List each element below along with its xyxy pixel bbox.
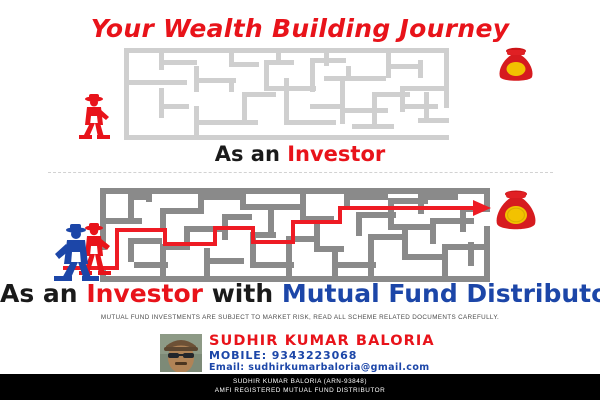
disclaimer-text: MUTUAL FUND INVESTMENTS ARE SUBJECT TO M… <box>0 314 600 321</box>
profile-photo <box>160 334 202 372</box>
caption-one-highlight: Investor <box>287 142 385 166</box>
caption-two-middle: with <box>203 279 282 308</box>
guided-red-path <box>55 186 525 286</box>
poster-canvas: Your Wealth Building Journey <box>0 0 600 400</box>
contact-email[interactable]: Email: sudhirkumarbaloria@gmail.com <box>209 362 435 374</box>
contact-name: SUDHIR KUMAR BALORIA <box>209 334 435 349</box>
caption-two-highlight-blue: Mutual Fund Distributor <box>282 279 600 308</box>
footer-line-one: SUDHIR KUMAR BALORIA (ARN-93848) <box>0 378 600 387</box>
footer-line-two: AMFI REGISTERED MUTUAL FUND DISTRIBUTOR <box>0 387 600 396</box>
caption-two-prefix: As an <box>0 279 86 308</box>
maze-no-guide <box>124 48 449 140</box>
caption-section-two: As an Investor with Mutual Fund Distribu… <box>0 279 600 308</box>
contact-mobile[interactable]: MOBILE: 9343223068 <box>209 349 435 362</box>
section-divider <box>48 172 553 173</box>
contact-details: SUDHIR KUMAR BALORIA MOBILE: 9343223068 … <box>209 334 435 374</box>
caption-section-one: As an Investor <box>0 142 600 166</box>
caption-two-highlight-red: Investor <box>86 279 203 308</box>
page-title: Your Wealth Building Journey <box>0 14 600 43</box>
contact-card: SUDHIR KUMAR BALORIA MOBILE: 9343223068 … <box>160 334 435 374</box>
money-bag-icon-large <box>490 186 542 241</box>
investor-figure <box>76 92 116 145</box>
footer-bar: SUDHIR KUMAR BALORIA (ARN-93848) AMFI RE… <box>0 374 600 400</box>
caption-one-prefix: As an <box>215 142 288 166</box>
money-bag-icon <box>494 44 538 91</box>
